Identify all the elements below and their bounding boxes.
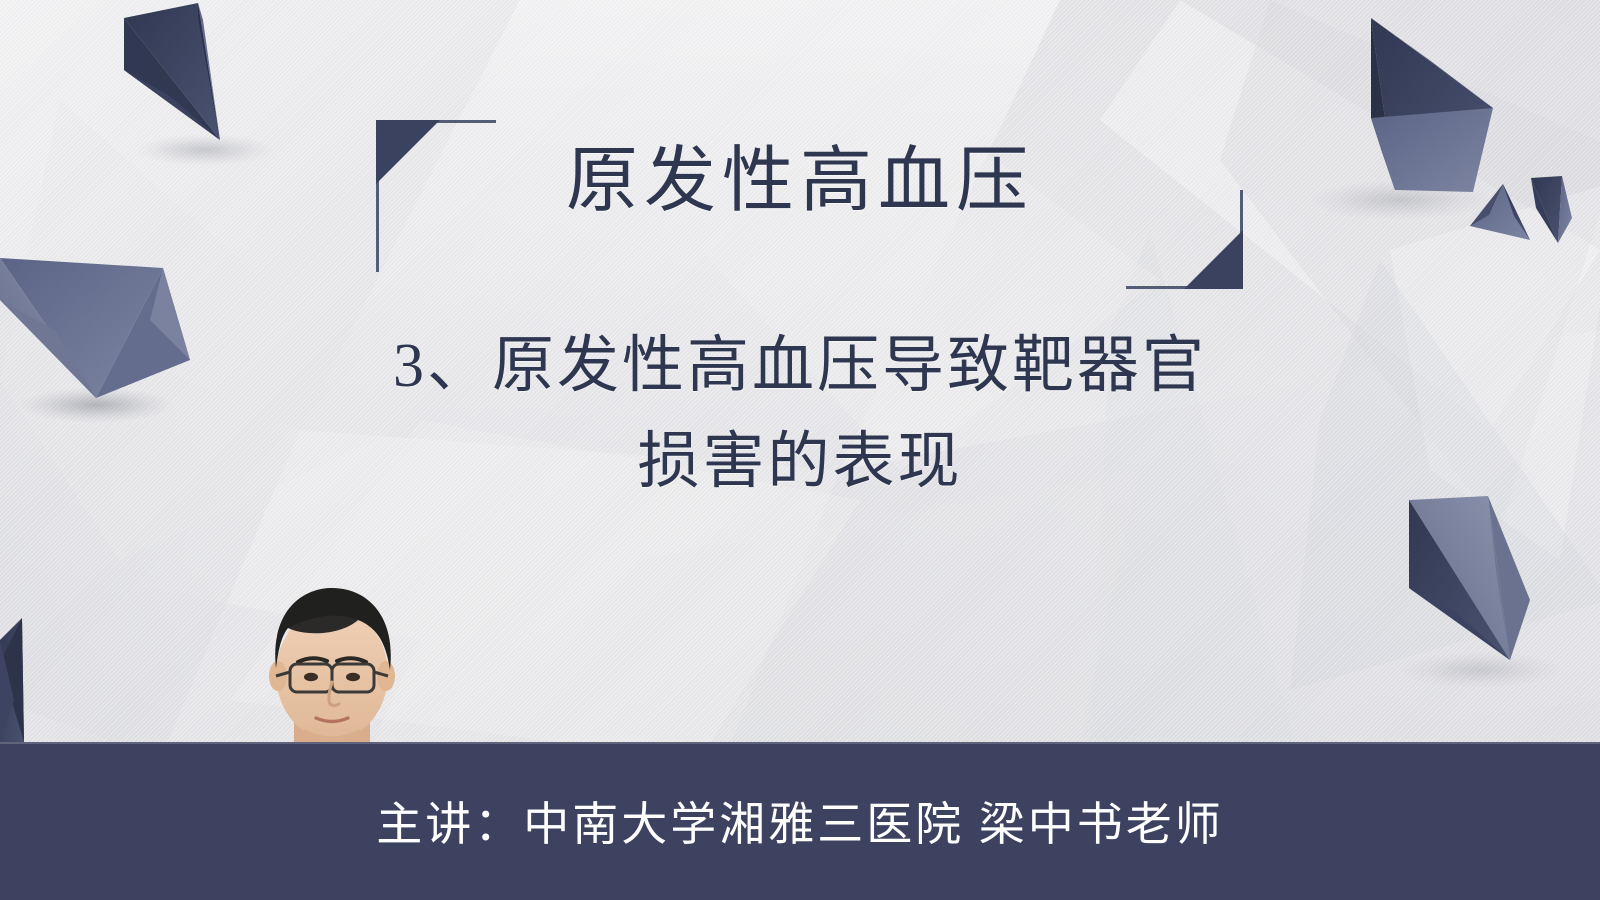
bottom-credit-bar: 主讲：中南大学湘雅三医院 梁中书老师 [0,742,1600,900]
subtitle-line-1: 3、原发性高血压导致靶器官 [0,318,1600,414]
presenter-credit-text: 主讲：中南大学湘雅三医院 梁中书老师 [0,742,1600,900]
origami-shape-bottom-left [0,618,24,742]
presentation-slide: 原发性高血压 3、原发性高血压导致靶器官 损害的表现 [0,0,1600,900]
subtitle-line-2: 损害的表现 [0,414,1600,510]
page-title: 原发性高血压 [0,140,1600,223]
subtitle: 3、原发性高血压导致靶器官 损害的表现 [0,318,1600,510]
origami-shape-right-lower [1398,496,1562,688]
